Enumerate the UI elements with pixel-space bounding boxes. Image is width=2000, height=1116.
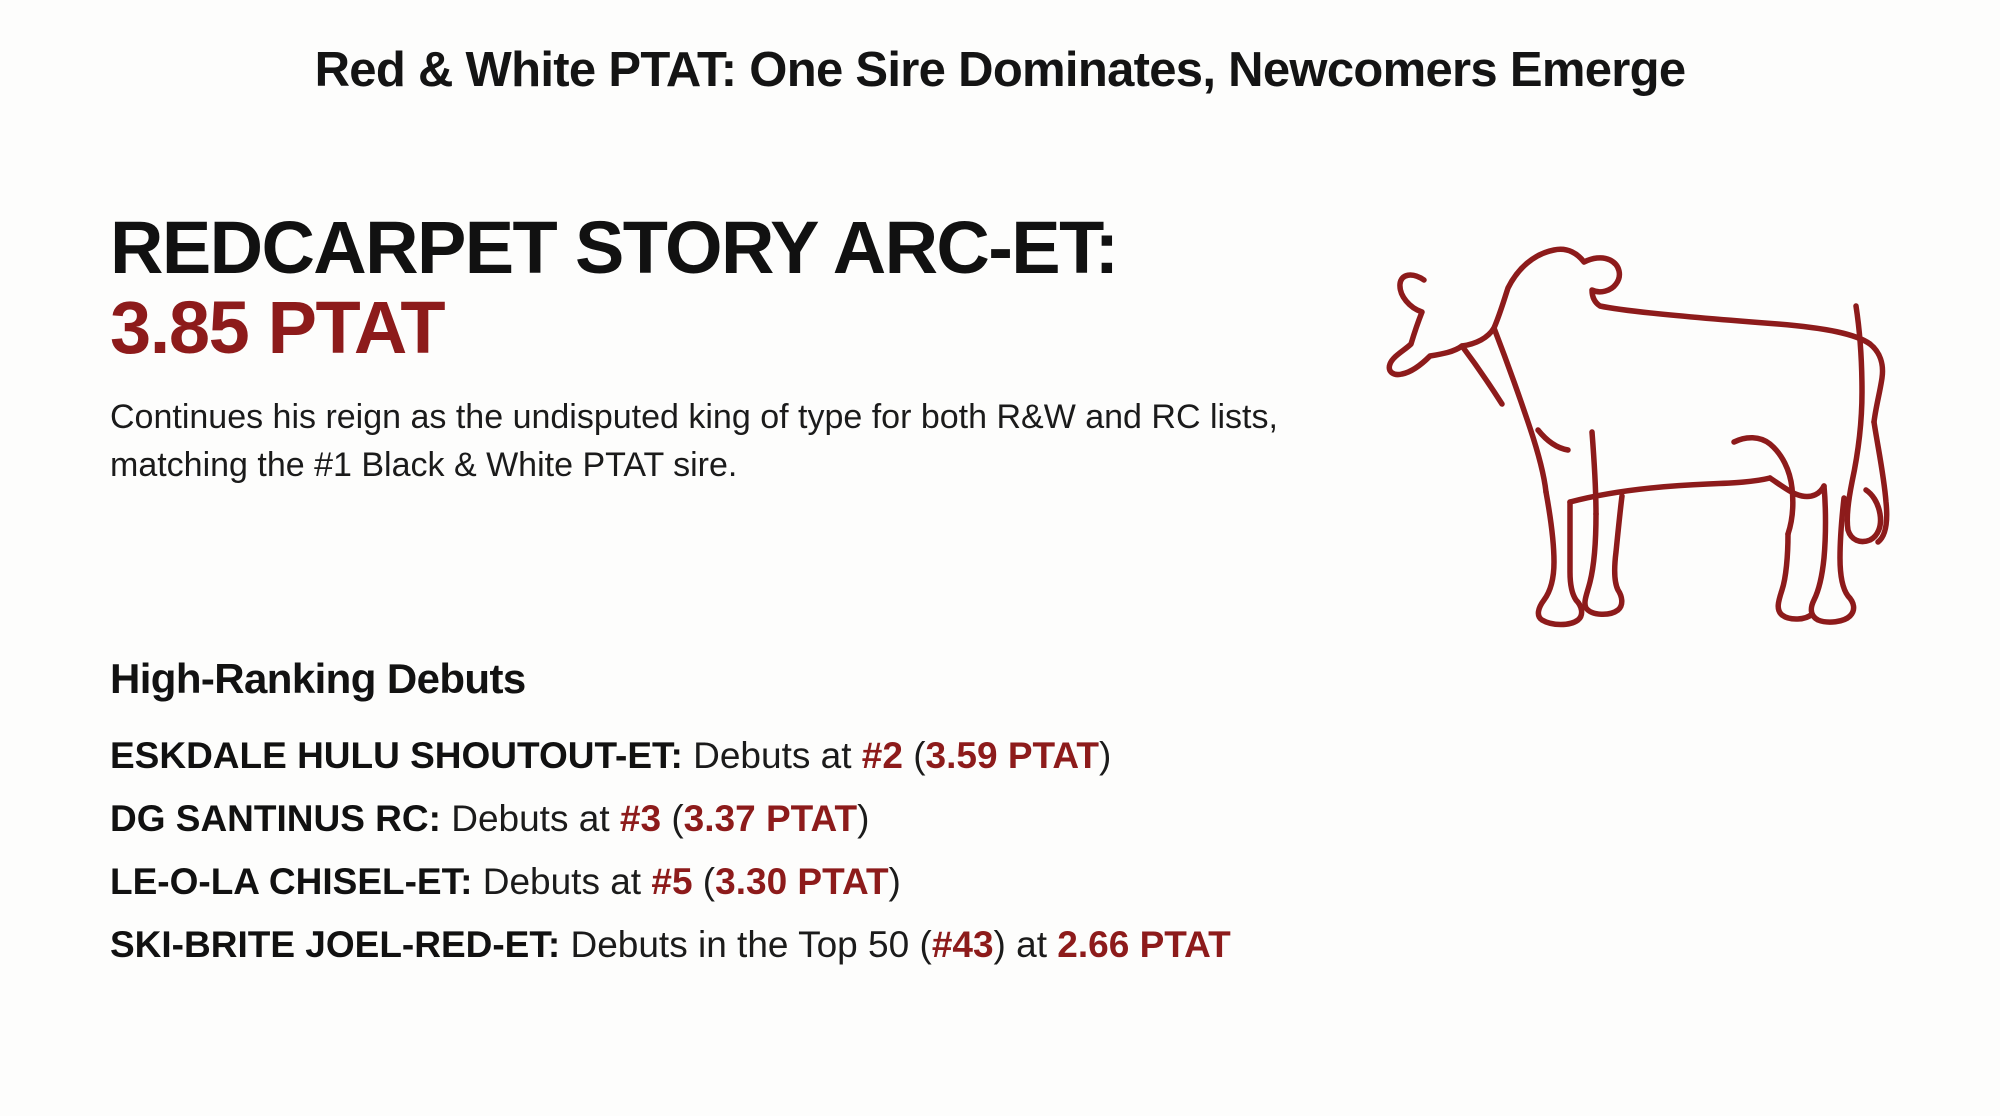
debut-rank: #2 (862, 735, 903, 776)
hero-ptat-value: 3.85 PTAT (110, 289, 1430, 367)
debut-open-paren: ( (919, 924, 931, 965)
debut-tail-text: at (1006, 924, 1057, 965)
debut-sire-name: DG SANTINUS RC: (110, 798, 441, 839)
debut-mid-text: Debuts at (472, 861, 651, 902)
debuts-heading: High-Ranking Debuts (110, 655, 1910, 703)
hero-description: Continues his reign as the undisputed ki… (110, 393, 1340, 490)
debut-ptat-value: 2.66 PTAT (1057, 924, 1230, 965)
debut-rank: #5 (651, 861, 692, 902)
debut-ptat-value: 3.59 PTAT (926, 735, 1099, 776)
debut-close-paren: ) (1099, 735, 1111, 776)
debut-mid-text: Debuts at (441, 798, 620, 839)
debut-sire-name: ESKDALE HULU SHOUTOUT-ET: (110, 735, 683, 776)
debut-close-paren: ) (889, 861, 901, 902)
debut-rank: #3 (620, 798, 661, 839)
infographic-slide: Red & White PTAT: One Sire Dominates, Ne… (0, 0, 2000, 1116)
debut-row: DG SANTINUS RC: Debuts at #3 (3.37 PTAT) (110, 800, 1910, 837)
debut-close-paren: ) (857, 798, 869, 839)
debut-close-paren: ) (994, 924, 1006, 965)
debut-sire-name: SKI-BRITE JOEL-RED-ET: (110, 924, 560, 965)
debut-ptat-value: 3.30 PTAT (715, 861, 888, 902)
debut-row: ESKDALE HULU SHOUTOUT-ET: Debuts at #2 (… (110, 737, 1910, 774)
debut-open-paren: ( (693, 861, 716, 902)
debut-open-paren: ( (661, 798, 684, 839)
debut-mid-text: Debuts in the Top 50 (560, 924, 919, 965)
page-title: Red & White PTAT: One Sire Dominates, Ne… (0, 42, 2000, 98)
debut-open-paren: ( (903, 735, 926, 776)
debut-row: SKI-BRITE JOEL-RED-ET: Debuts in the Top… (110, 926, 1910, 963)
high-ranking-debuts-section: High-Ranking Debuts ESKDALE HULU SHOUTOU… (110, 655, 1910, 989)
hero-section: REDCARPET STORY ARC-ET: 3.85 PTAT Contin… (110, 212, 1430, 489)
debut-rank: #43 (932, 924, 994, 965)
debut-row: LE-O-LA CHISEL-ET: Debuts at #5 (3.30 PT… (110, 863, 1910, 900)
debut-sire-name: LE-O-LA CHISEL-ET: (110, 861, 472, 902)
hero-sire-name: REDCARPET STORY ARC-ET: (110, 212, 1430, 285)
debut-mid-text: Debuts at (683, 735, 862, 776)
cow-outline-icon (1378, 196, 1908, 656)
debut-ptat-value: 3.37 PTAT (684, 798, 857, 839)
